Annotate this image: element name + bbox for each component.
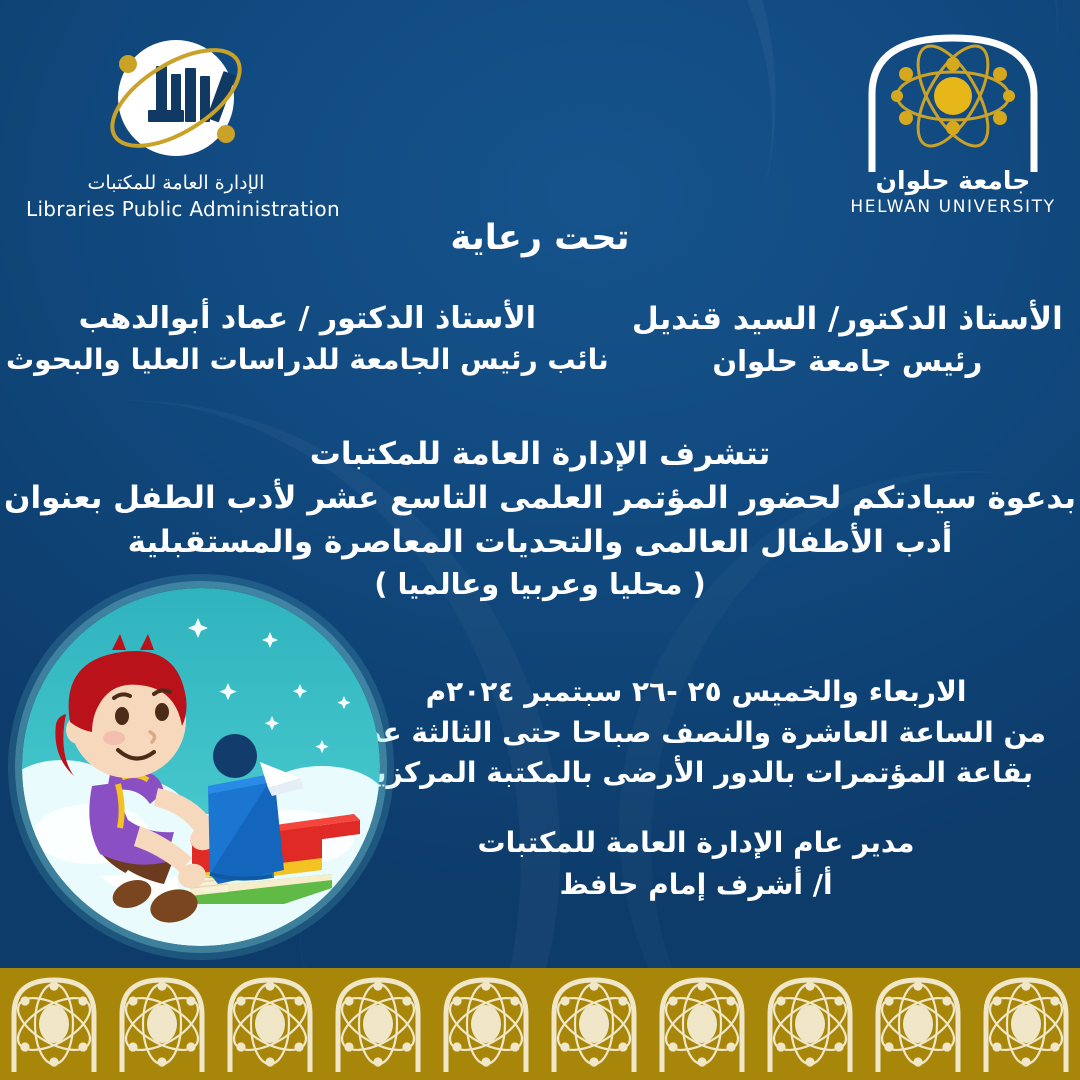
event-venue: بقاعة المؤتمرات بالدور الأرضى بالمكتبة ا… — [346, 753, 1046, 794]
sponsor-names-row: الأستاذ الدكتور/ السيد قنديل رئيس جامعة … — [0, 300, 1080, 379]
bookshelf-orbit-icon — [56, 28, 296, 168]
sponsor-title: نائب رئيس الجامعة للدراسات العليا والبحو… — [6, 342, 609, 377]
patronage-label: تحت رعاية — [0, 218, 1080, 258]
signature-block: مدير عام الإدارة العامة للمكتبات أ/ أشرف… — [346, 822, 1046, 906]
invitation-line-1: تتشرف الإدارة العامة للمكتبات — [0, 432, 1080, 476]
poster-canvas: الإدارة العامة للمكتبات Libraries Public… — [0, 0, 1080, 1080]
invitation-body: تتشرف الإدارة العامة للمكتبات بدعوة سياد… — [0, 432, 1080, 605]
sponsor-name: الأستاذ الدكتور/ السيد قنديل — [621, 300, 1074, 339]
logo-right-arabic-label: جامعة حلوان — [848, 166, 1058, 195]
event-date: الاربعاء والخميس ٢٥ -٢٦ سبتمبر ٢٠٢٤م — [346, 672, 1046, 713]
sponsor-name: الأستاذ الدكتور / عماد أبوالدهب — [6, 300, 609, 338]
gold-footer-band — [0, 968, 1080, 1080]
invitation-line-2: بدعوة سيادتكم لحضور المؤتمر العلمى التاس… — [0, 476, 1080, 520]
sponsor-title: رئيس جامعة حلوان — [621, 343, 1074, 379]
atom-arch-icon — [858, 22, 1048, 172]
sponsor-block-2: الأستاذ الدكتور / عماد أبوالدهب نائب رئي… — [0, 300, 615, 379]
helwan-university-logo: جامعة حلوان HELWAN UNIVERSITY — [848, 22, 1058, 217]
logo-left-arabic-label: الإدارة العامة للمكتبات — [26, 172, 326, 194]
signature-name: أ/ أشرف إمام حافظ — [346, 864, 1046, 906]
sponsor-block-1: الأستاذ الدكتور/ السيد قنديل رئيس جامعة … — [615, 300, 1080, 379]
logo-right-english-label: HELWAN UNIVERSITY — [848, 197, 1058, 217]
conference-title: أدب الأطفال العالمى والتحديات المعاصرة و… — [0, 520, 1080, 564]
event-details: الاربعاء والخميس ٢٥ -٢٦ سبتمبر ٢٠٢٤م من … — [346, 672, 1046, 794]
event-time: من الساعة العاشرة والنصف صباحا حتى الثال… — [346, 713, 1046, 754]
libraries-public-administration-logo: الإدارة العامة للمكتبات Libraries Public… — [26, 28, 326, 221]
child-reading-illustration — [22, 588, 380, 946]
signature-role: مدير عام الإدارة العامة للمكتبات — [346, 822, 1046, 864]
